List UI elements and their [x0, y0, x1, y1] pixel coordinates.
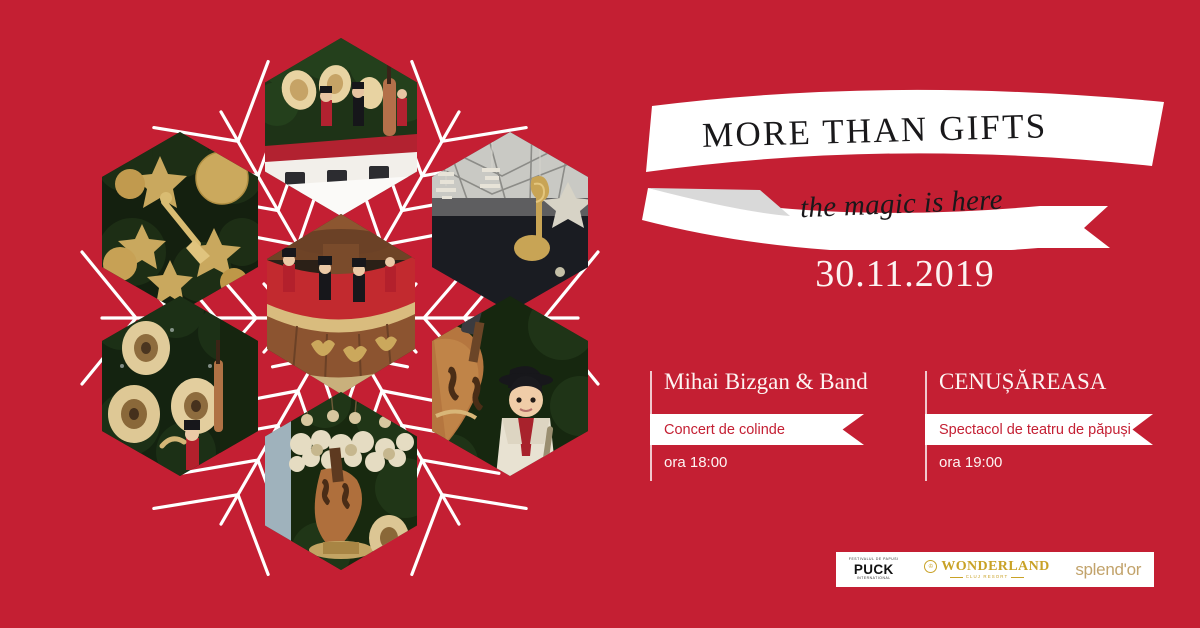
- rule-left: [950, 577, 963, 578]
- puck-wordmark: PUCK: [854, 563, 894, 577]
- event-description: Concert de colinde: [650, 422, 785, 438]
- events-list: Mihai Bizgan & Band Concert de colinde o…: [650, 371, 1170, 481]
- collage-photo-upper-right: [432, 132, 588, 312]
- event-title: CENUȘĂREASA: [939, 369, 1106, 395]
- collage-photo-bottom: [265, 392, 417, 570]
- sponsor-logo-bar: FESTIVALUL DE PAPUSI PUCK INTERNATIONAL …: [836, 552, 1154, 587]
- collage-photo-center: [267, 214, 415, 394]
- puck-bottom-text: INTERNATIONAL: [857, 577, 891, 580]
- collage-photo-upper-left: [102, 132, 258, 312]
- crown-icon: ♔: [924, 560, 937, 573]
- event-title: Mihai Bizgan & Band: [664, 369, 868, 395]
- event-description-banner: Concert de colinde: [650, 414, 864, 445]
- collage-photo-top: [265, 38, 417, 216]
- logo-puck: FESTIVALUL DE PAPUSI PUCK INTERNATIONAL: [849, 558, 899, 580]
- event-description-banner: Spectacol de teatru de păpuși: [925, 414, 1153, 445]
- splendor-wordmark: splend'or: [1075, 561, 1141, 578]
- wonderland-subtitle: CLUJ RESORT: [950, 575, 1025, 579]
- event-description: Spectacol de teatru de păpuși: [925, 422, 1131, 438]
- poster-canvas: MORE THAN GIFTS the magic is here 30.11.…: [0, 0, 1200, 628]
- event-time: ora 18:00: [664, 454, 727, 471]
- event-date: 30.11.2019: [640, 252, 1170, 296]
- logo-splendor: splend'or: [1075, 561, 1141, 578]
- collage-photo-lower-left: [102, 296, 258, 476]
- event-time: ora 19:00: [939, 454, 1002, 471]
- logo-wonderland: ♔ WONDERLAND CLUJ RESORT: [924, 560, 1049, 580]
- rule-right: [1011, 577, 1024, 578]
- collage-photo-lower-right: [432, 296, 588, 476]
- event-item: CENUȘĂREASA Spectacol de teatru de păpuș…: [925, 371, 1170, 481]
- wonderland-wordmark: WONDERLAND: [941, 560, 1049, 574]
- hexagon-photo-collage: [40, 44, 640, 592]
- title-ribbon: MORE THAN GIFTS the magic is here: [640, 80, 1170, 250]
- event-item: Mihai Bizgan & Band Concert de colinde o…: [650, 371, 925, 481]
- wonderland-subtitle-text: CLUJ RESORT: [966, 575, 1009, 579]
